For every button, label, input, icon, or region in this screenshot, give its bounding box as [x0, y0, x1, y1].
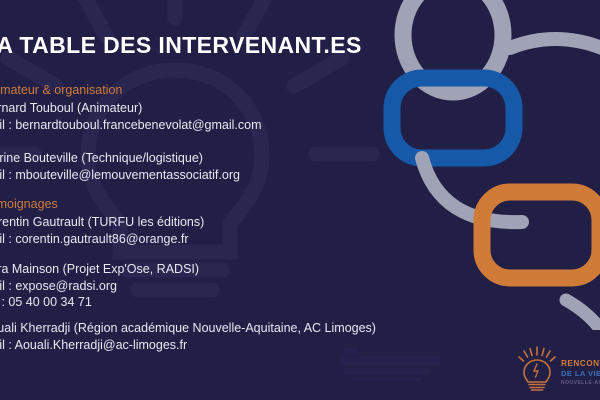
- person-name: Aouali Kherradji (Région académique Nouv…: [0, 320, 502, 337]
- section-animateur-organisation: Animateur & organisation Bernard Touboul…: [0, 82, 502, 133]
- page-title: LA TABLE DES INTERVENANT.ES: [0, 32, 362, 59]
- person-name: Marine Bouteville (Technique/logistique): [0, 150, 502, 167]
- event-logo-line2: DE LA VIE ASSOCIATIVE: [561, 370, 600, 378]
- person-tel: Tel : 05 40 00 34 71: [0, 294, 502, 311]
- person-name: Sara Mainson (Projet Exp'Ose, RADSI): [0, 261, 502, 278]
- person-mail[interactable]: Mail : expose@radsi.org: [0, 278, 502, 295]
- event-logo-text: RENCONTRES DE LA VIE ASSOCIATIVE NOUVELL…: [561, 354, 600, 386]
- person-name: Corentin Gautrault (TURFU les éditions): [0, 214, 502, 231]
- section-heading: Témoignages: [0, 196, 502, 212]
- person-mail[interactable]: Mail : corentin.gautrault86@orange.fr: [0, 231, 502, 248]
- section-heading: Animateur & organisation: [0, 82, 502, 98]
- person-mail[interactable]: Mail : bernardtouboul.francebenevolat@gm…: [0, 117, 502, 134]
- slide-content: LA TABLE DES INTERVENANT.ES Animateur & …: [0, 0, 502, 400]
- person-name: Bernard Touboul (Animateur): [0, 100, 502, 117]
- entry-marine-bouteville: Marine Bouteville (Technique/logistique)…: [0, 150, 502, 183]
- slide-root: LA TABLE DES INTERVENANT.ES Animateur & …: [0, 0, 600, 400]
- person-mail[interactable]: Mail : mbouteville@lemouvementassociatif…: [0, 167, 502, 184]
- person-mail[interactable]: Mail : Aouali.Kherradji@ac-limoges.fr: [0, 337, 502, 354]
- event-logo-line3: NOUVELLE-AQUITAINE: [561, 381, 600, 386]
- lightbulb-icon: [517, 346, 557, 394]
- section-temoignages: Témoignages Corentin Gautrault (TURFU le…: [0, 196, 502, 247]
- entry-aouali-kherradji: Aouali Kherradji (Région académique Nouv…: [0, 320, 502, 353]
- entry-sara-mainson: Sara Mainson (Projet Exp'Ose, RADSI) Mai…: [0, 261, 502, 311]
- event-logo-line1: RENCONTRES: [561, 360, 600, 368]
- event-logo: RENCONTRES DE LA VIE ASSOCIATIVE NOUVELL…: [517, 344, 600, 396]
